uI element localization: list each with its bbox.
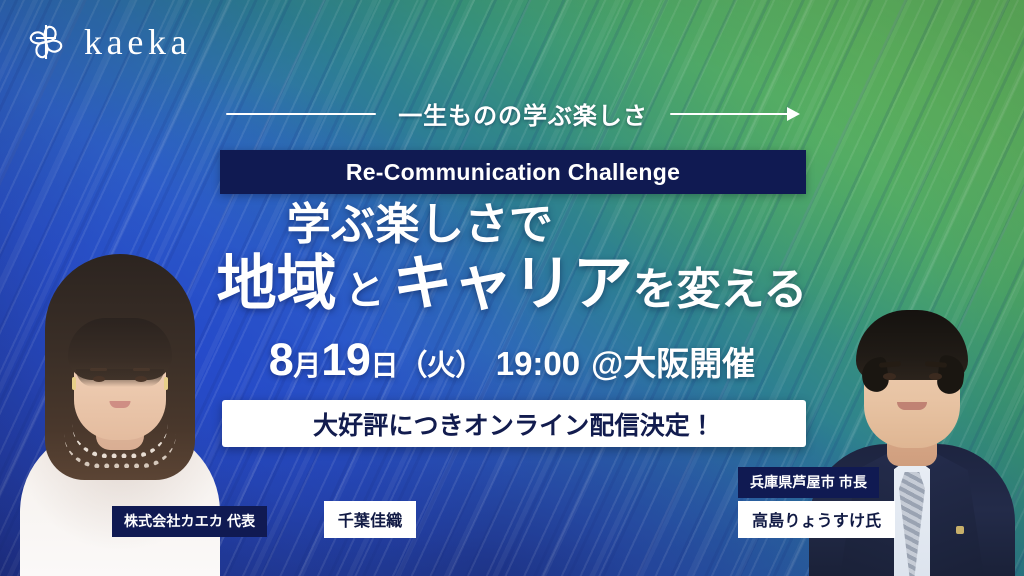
headline: 学ぶ楽しさで 地域 と キャリア を変える: [0, 200, 1024, 317]
headline-keyword-region: 地域: [217, 251, 337, 317]
interlocking-knot-icon: [22, 18, 70, 66]
event-day-number: 19: [321, 334, 370, 386]
event-month-number: 8: [269, 334, 294, 386]
speaker-name-left: 千葉佳織: [324, 501, 417, 538]
event-month-unit: 月: [293, 344, 321, 384]
program-title-text: Re-Communication Challenge: [346, 159, 680, 186]
speaker-role-left: 株式会社カエカ 代表: [112, 506, 267, 537]
right-speaker-mouth: [897, 402, 927, 410]
speaker-role-right: 兵庫県芦屋市 市長: [738, 467, 879, 498]
promo-banner: kaeka 一生ものの学ぶ楽しさ Re-Communication Challe…: [0, 0, 1024, 576]
online-streaming-callout-text: 大好評につきオンライン配信決定！: [313, 406, 715, 442]
headline-suffix: を変える: [633, 266, 808, 314]
horizontal-rule-icon: [226, 113, 376, 115]
headline-line-1: 学ぶ楽しさで: [0, 200, 932, 249]
event-time: 19:00: [496, 345, 580, 383]
program-title-ribbon: Re-Communication Challenge: [220, 150, 806, 194]
tagline: 一生ものの学ぶ楽しさ: [0, 96, 1024, 131]
event-weekday: （火）: [398, 342, 483, 384]
speaker-nameplate-right: 兵庫県芦屋市 市長 高島りょうすけ氏: [738, 467, 1024, 538]
brand-logo[interactable]: kaeka: [22, 18, 191, 66]
event-day-unit: 日: [370, 344, 398, 384]
headline-conjunction: と: [337, 269, 393, 313]
headline-keyword-career: キャリア: [393, 251, 633, 317]
speaker-nameplate-left: 株式会社カエカ 代表 千葉佳織: [112, 498, 416, 538]
event-place: @大阪開催: [591, 337, 755, 385]
arrow-right-icon: [670, 113, 798, 115]
headline-line-2: 地域 と キャリア を変える: [0, 251, 1024, 317]
brand-logo-text: kaeka: [84, 24, 191, 60]
online-streaming-callout: 大好評につきオンライン配信決定！: [222, 400, 806, 447]
speaker-name-right: 高島りょうすけ氏: [738, 501, 895, 538]
event-datetime: 8 月 19 日 （火） 19:00 @大阪開催: [0, 334, 1024, 386]
tagline-text: 一生ものの学ぶ楽しさ: [398, 96, 648, 131]
